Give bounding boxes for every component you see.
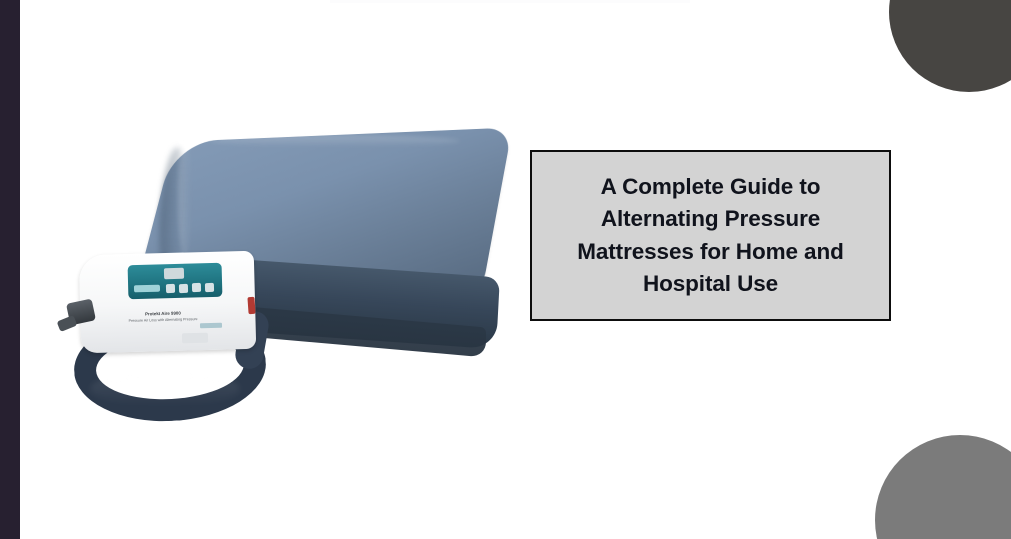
pump-label-block: Protekt Aire 9900 Pressure Air Loss with… xyxy=(115,309,211,325)
pump-button-icon xyxy=(192,283,201,292)
top-right-circle-decoration xyxy=(889,0,1011,92)
title-card: A Complete Guide to Alternating Pressure… xyxy=(530,150,891,321)
product-photo: Protekt Aire 9900 Pressure Air Loss with… xyxy=(60,125,510,435)
pump-hose-highlight xyxy=(90,371,240,407)
pump-hose-connector-tip xyxy=(57,315,78,332)
pump-button-icon xyxy=(179,284,188,293)
page-title: A Complete Guide to Alternating Pressure… xyxy=(532,171,889,300)
pump-front-vent xyxy=(182,333,208,344)
pump-button-icon xyxy=(205,283,214,292)
pump-manufacturer-logo xyxy=(200,323,222,329)
pump-button-icon xyxy=(166,284,175,293)
mattress-fold-highlight xyxy=(178,137,192,257)
bottom-right-circle-decoration xyxy=(875,435,1011,539)
pump-display-screen xyxy=(164,268,184,280)
pump-sub-label: Pressure Air Loss with Alternating Press… xyxy=(129,318,198,324)
top-edge-sliver xyxy=(330,0,690,3)
slide-canvas: Protekt Aire 9900 Pressure Air Loss with… xyxy=(0,0,1011,539)
pump-power-switch-icon xyxy=(247,297,255,314)
mattress-edge-highlight xyxy=(210,135,460,147)
pump-brand-badge xyxy=(134,285,160,293)
left-accent-bar xyxy=(0,0,20,539)
